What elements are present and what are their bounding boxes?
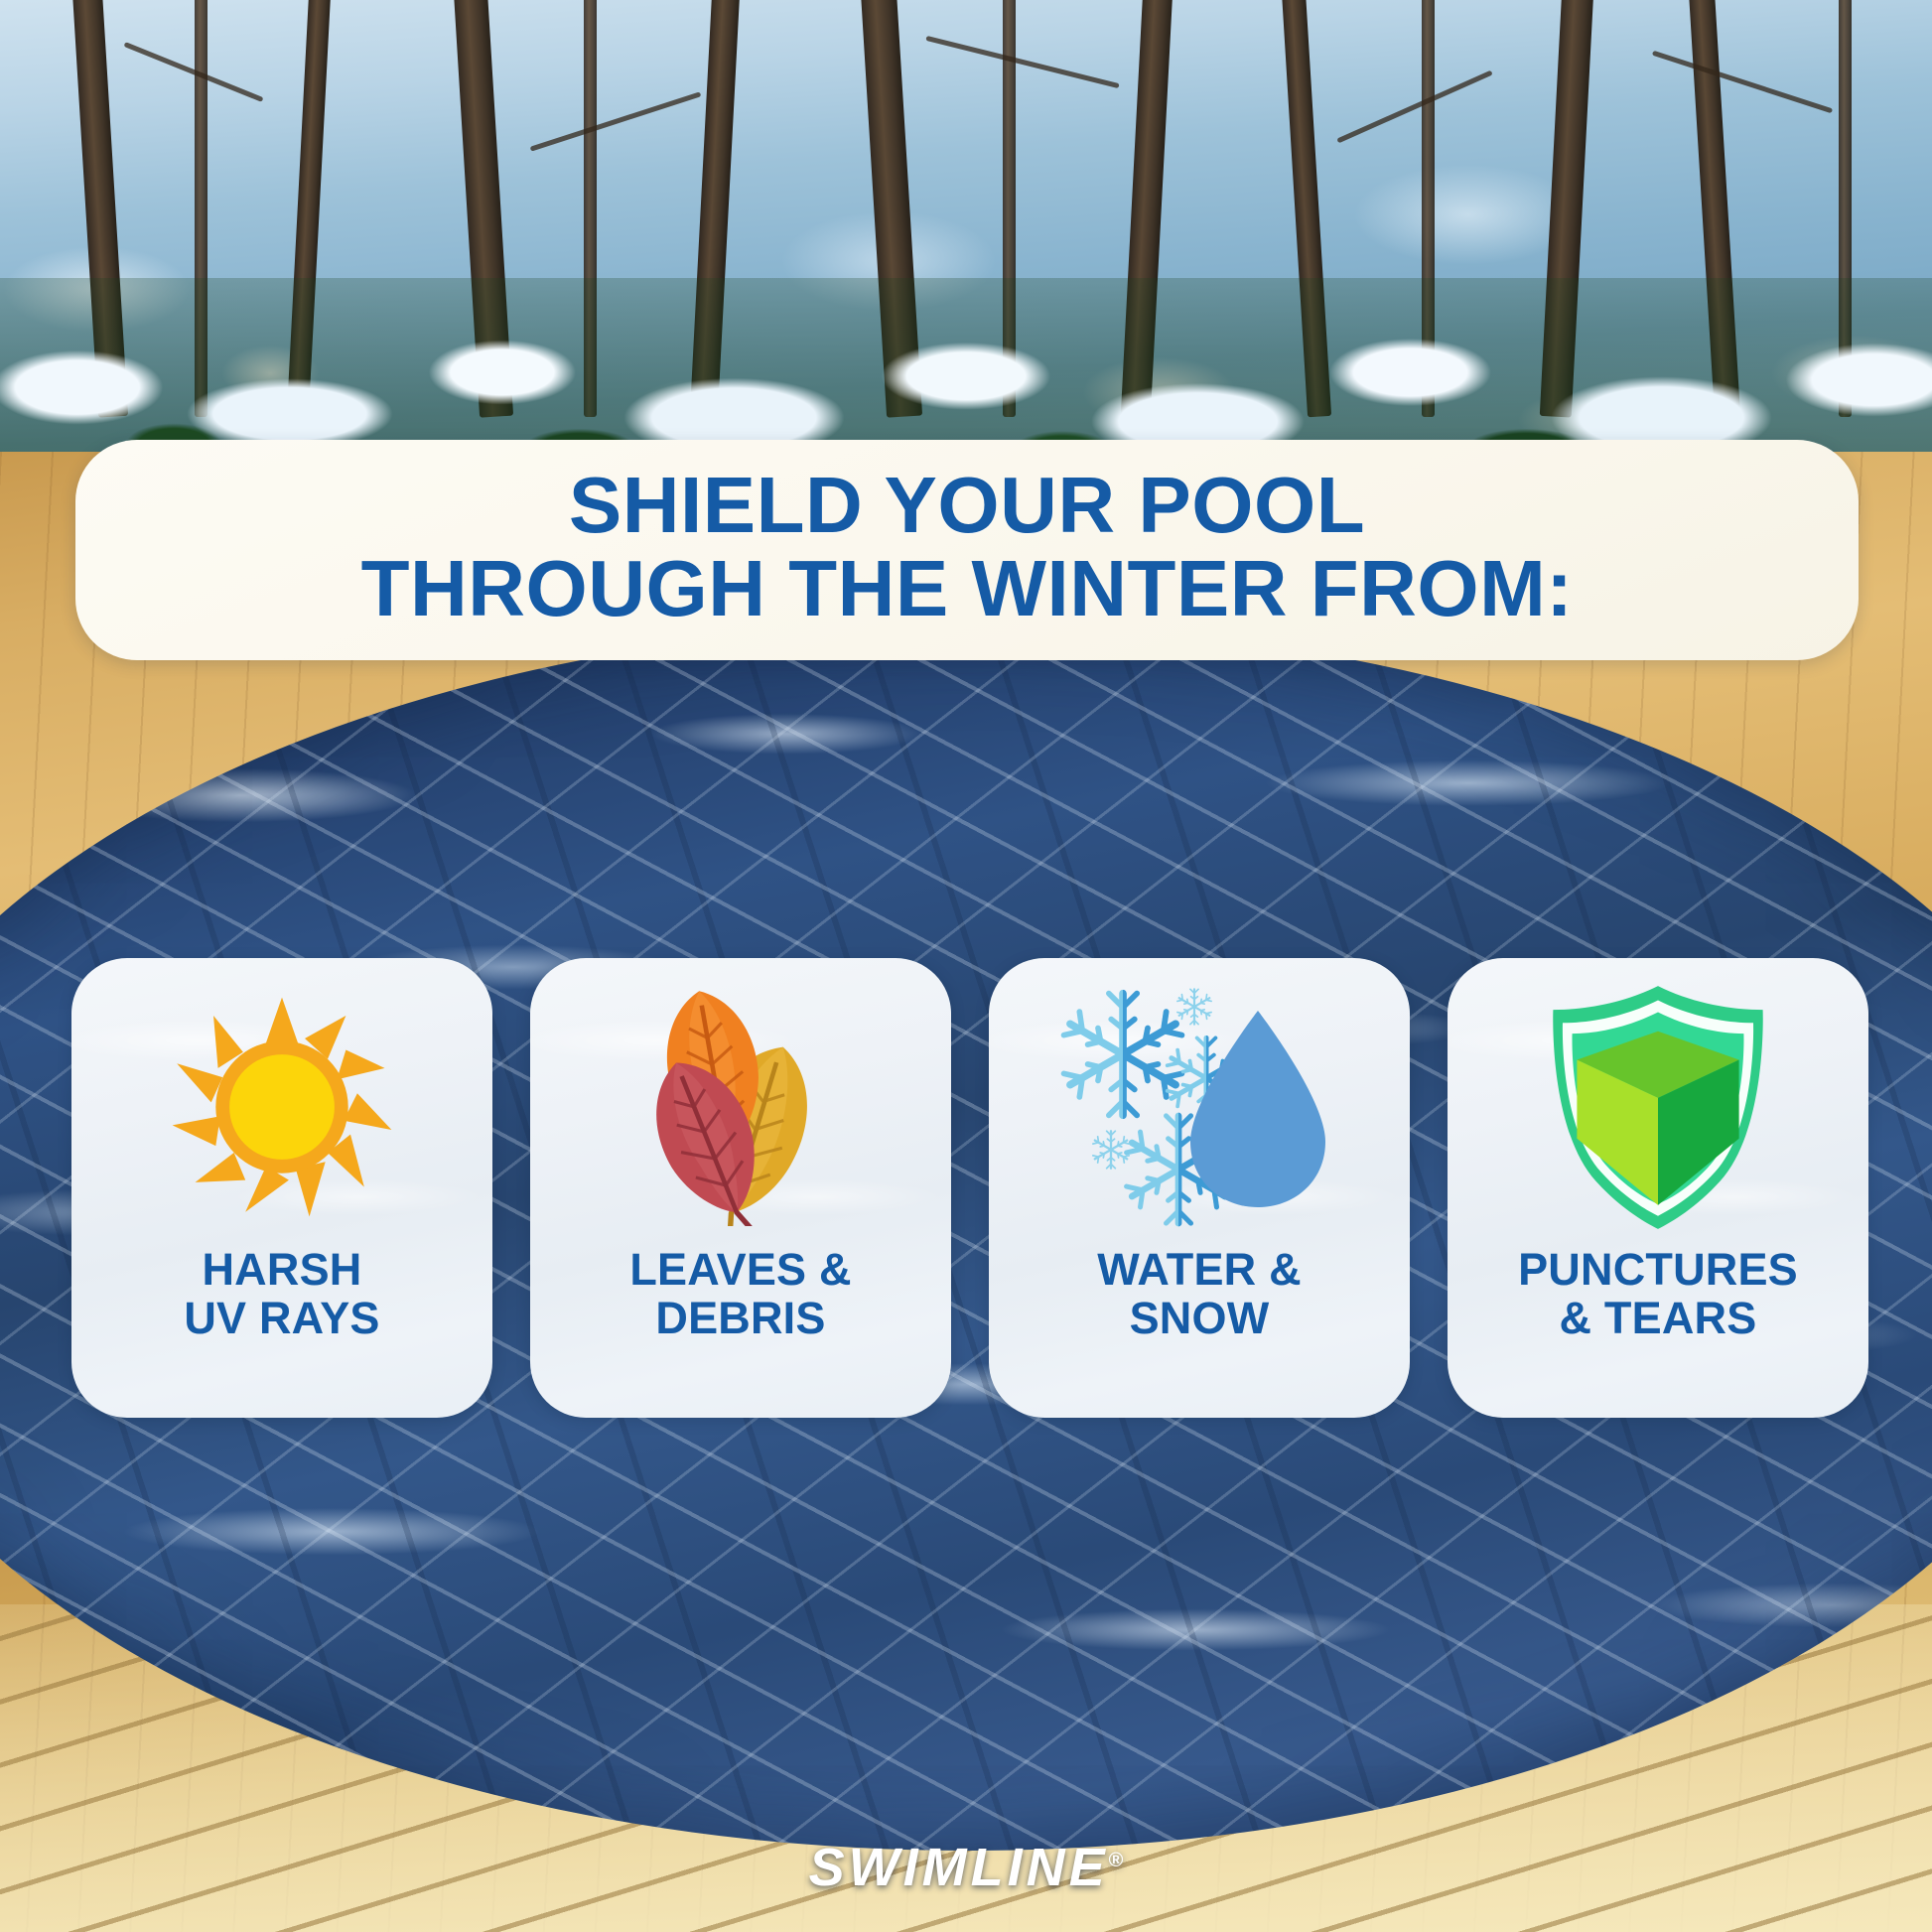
snow-water-icon [1055,983,1343,1231]
feature-card-row: HARSH UV RAYS [71,958,1868,1418]
snow-covered-brush [0,278,1932,467]
registered-trademark-symbol: ® [1109,1850,1124,1871]
feature-card-water-snow[interactable]: WATER & SNOW [989,958,1410,1418]
feature-card-punctures-tears[interactable]: PUNCTURES & TEARS [1448,958,1868,1418]
snowy-forest-background [0,0,1932,467]
feature-card-leaves-debris[interactable]: LEAVES & DEBRIS [530,958,951,1418]
tree-branch [124,42,264,102]
card-label-punctures-tears: PUNCTURES & TEARS [1510,1246,1806,1342]
marketing-graphic: SHIELD YOUR POOL THROUGH THE WINTER FROM… [0,0,1932,1932]
card-label-water-snow: WATER & SNOW [1089,1246,1310,1342]
card-icon-slot [530,958,951,1246]
leaves-icon [617,988,865,1226]
swimline-logo: SWIMLINE® [0,1837,1932,1898]
headline-line-1: SHIELD YOUR POOL [569,467,1365,544]
tree-branch [1336,70,1492,144]
water-droplet-icon [1190,1011,1325,1207]
tree-branch [530,91,702,151]
shield-icon [1539,981,1777,1234]
card-label-leaves-debris: LEAVES & DEBRIS [621,1246,859,1342]
tree-branch [925,36,1119,88]
headline-banner: SHIELD YOUR POOL THROUGH THE WINTER FROM… [75,440,1859,660]
sun-icon [168,993,396,1221]
card-icon-slot [1448,958,1868,1246]
card-label-uv-rays: HARSH UV RAYS [176,1246,387,1342]
headline-line-2: THROUGH THE WINTER FROM: [361,544,1574,633]
feature-card-uv-rays[interactable]: HARSH UV RAYS [71,958,492,1418]
tree-branch [1652,51,1833,113]
brand-name: SWIMLINE [809,1838,1109,1897]
card-icon-slot [989,958,1410,1246]
card-icon-slot [71,958,492,1246]
